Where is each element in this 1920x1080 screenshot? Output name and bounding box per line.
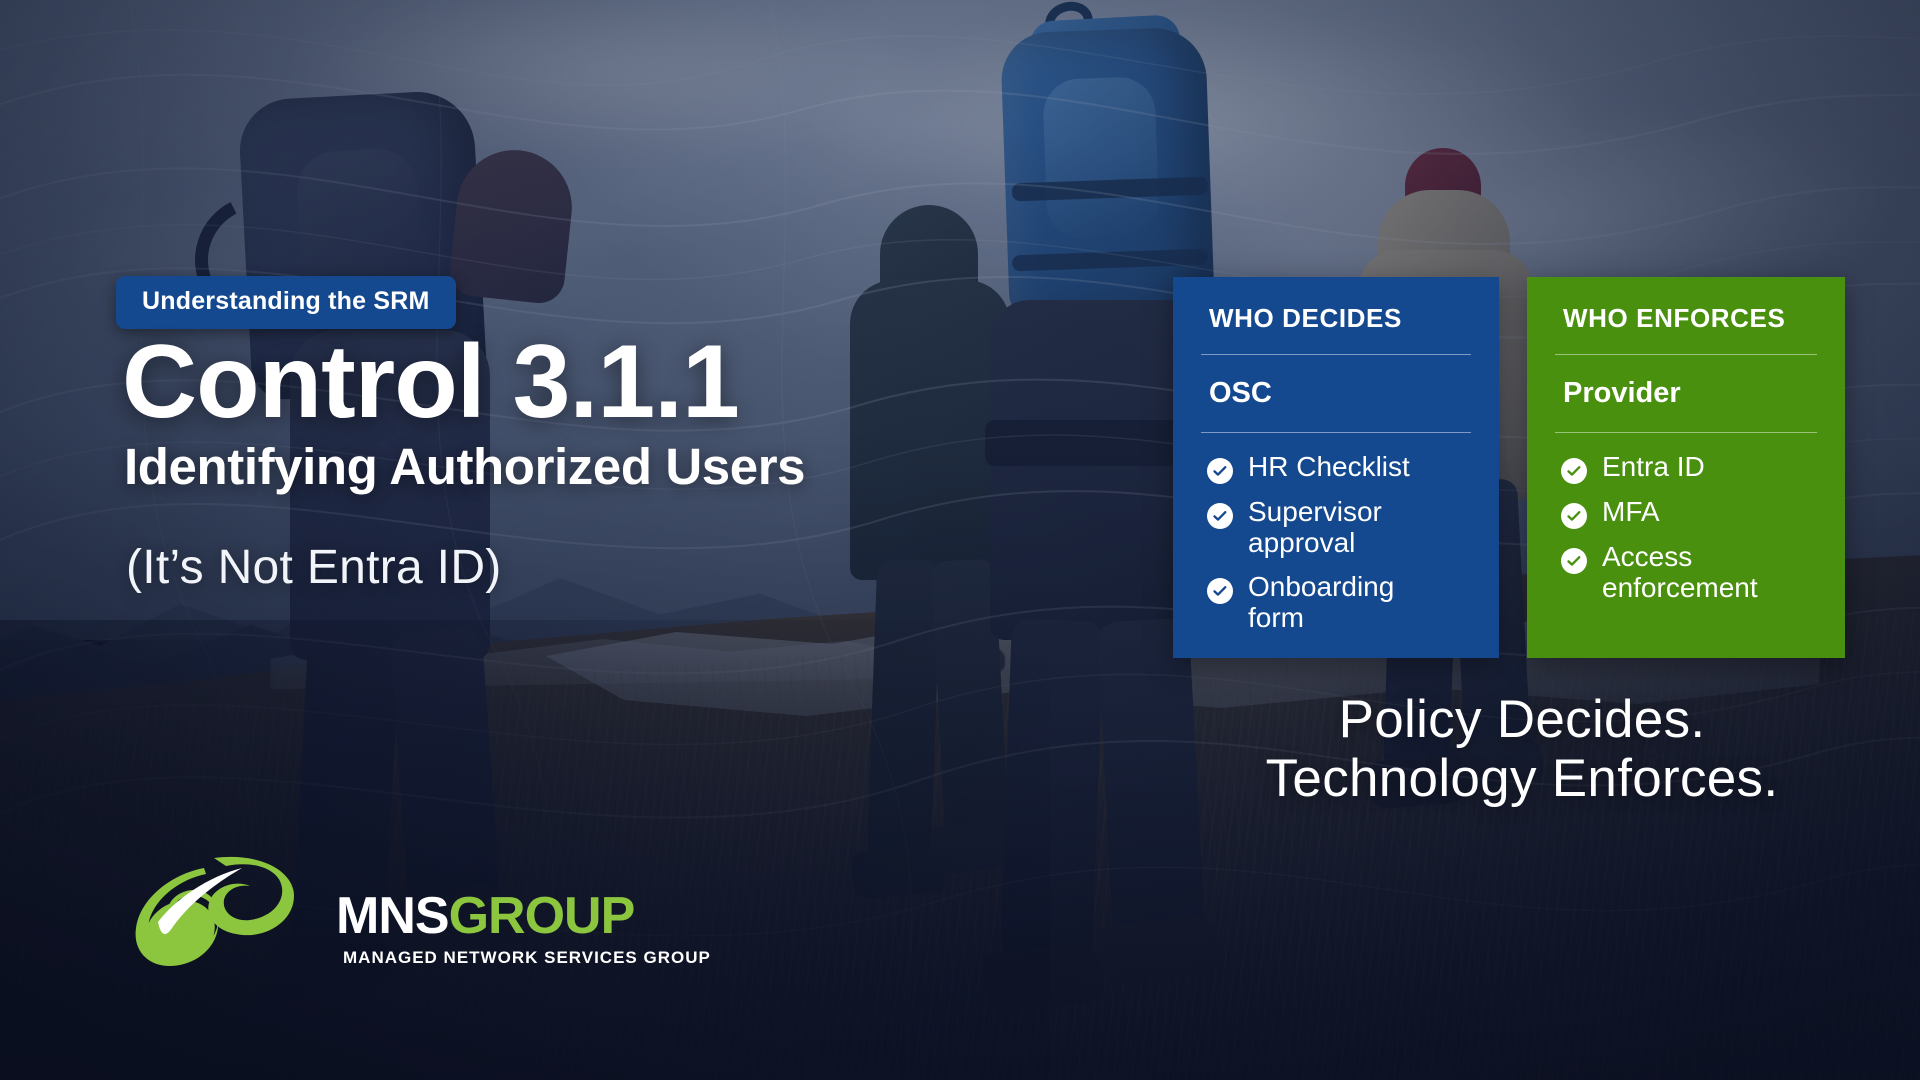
card-who-enforces: WHO ENFORCES Provider Entra ID MFA [1527,277,1845,658]
check-circle-icon [1207,503,1233,529]
card-who-decides: WHO DECIDES OSC HR Checklist Supervisor … [1173,277,1499,658]
page-note: (It’s Not Entra ID) [126,540,502,595]
tagline: Policy Decides. Technology Enforces. [1182,690,1862,809]
card-subtitle: Provider [1555,355,1817,432]
list-item: HR Checklist [1207,451,1471,484]
slide-canvas: Understanding the SRM Control 3.1.1 Iden… [0,0,1920,1080]
slide-content: Understanding the SRM Control 3.1.1 Iden… [0,0,1920,1080]
logo-wordmark-secondary: GROUP [449,887,635,945]
list-item: Entra ID [1561,451,1817,484]
check-circle-icon [1561,548,1587,574]
list-item: Onboarding form [1207,571,1471,634]
check-circle-icon [1207,458,1233,484]
tagline-line-1: Policy Decides. [1182,690,1862,749]
logo-wordmark: MNSGROUP [336,886,634,946]
check-circle-icon [1207,578,1233,604]
check-circle-icon [1561,458,1587,484]
card-subtitle: OSC [1201,355,1471,432]
logo-wordmark-primary: MNS [336,887,449,945]
tagline-line-2: Technology Enforces. [1182,749,1862,808]
brand-logo: MNSGROUP MANAGED NETWORK SERVICES GROUP [118,848,578,988]
eyebrow-badge: Understanding the SRM [116,276,456,329]
list-item-label: HR Checklist [1248,451,1410,482]
card-title: WHO DECIDES [1201,277,1471,354]
list-item-label: Supervisor approval [1248,496,1453,559]
list-item-label: Onboarding form [1248,571,1453,634]
page-subtitle: Identifying Authorized Users [124,437,805,496]
list-item-label: MFA [1602,496,1660,527]
list-item: Supervisor approval [1207,496,1471,559]
list-item: MFA [1561,496,1817,529]
list-item-label: Access enforcement [1602,541,1807,604]
list-item-label: Entra ID [1602,451,1705,482]
list-item: Access enforcement [1561,541,1817,604]
card-list: Entra ID MFA Access enforcement [1555,433,1817,604]
check-circle-icon [1561,503,1587,529]
mns-infinity-mark-icon [118,848,333,968]
card-list: HR Checklist Supervisor approval Onboard… [1201,433,1471,633]
page-title: Control 3.1.1 [122,330,739,434]
logo-tagline: MANAGED NETWORK SERVICES GROUP [343,948,711,968]
card-title: WHO ENFORCES [1555,277,1817,354]
